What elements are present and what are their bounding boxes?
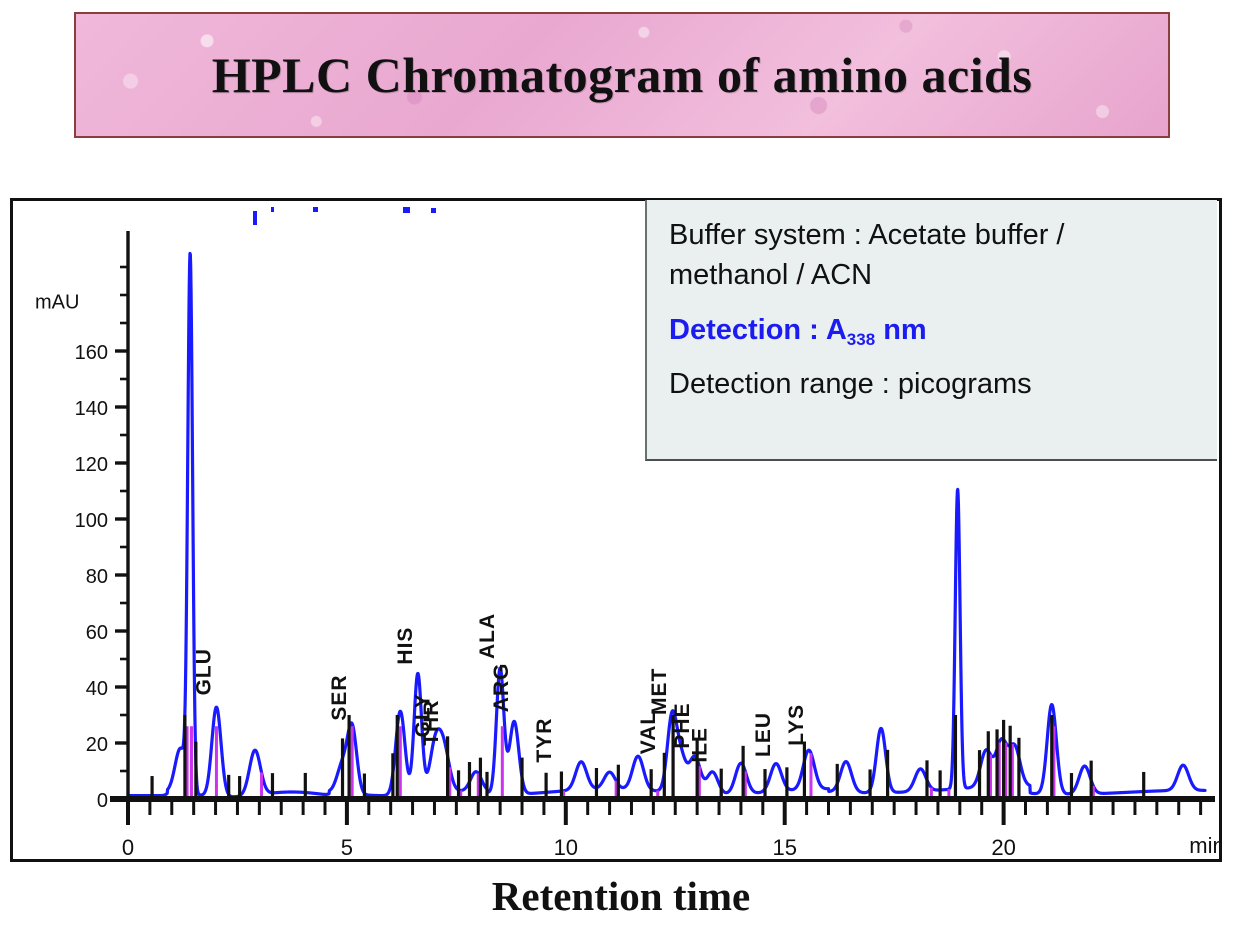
peak-labels: GLUSERHISGLYTHRALAARGTYRVALMETPHEILELEUL… [192, 613, 807, 763]
artifact-fragment [271, 207, 274, 212]
y-tick-label: 0 [97, 790, 108, 812]
y-tick-label: 120 [75, 454, 108, 476]
y-tick-label: 60 [86, 622, 108, 644]
x-axis-caption: Retention time [0, 872, 1242, 920]
peak-label-thr: THR [420, 700, 443, 746]
title-banner: HPLC Chromatogram of amino acids [74, 12, 1170, 138]
detection-suffix: nm [875, 314, 927, 346]
detection-range: Detection range : picograms [669, 365, 1217, 403]
x-tick-label: 15 [772, 835, 796, 859]
detection-prefix: Detection : A [669, 314, 847, 346]
buffer-system-line2: methanol / ACN [669, 256, 1217, 294]
detection-wavelength: Detection : A338 nm [669, 311, 1217, 349]
clipped-text-artifacts [253, 207, 436, 225]
peak-label-his: HIS [394, 627, 417, 665]
y-tick-label: 40 [86, 678, 108, 700]
peak-label-tyr: TYR [533, 718, 556, 763]
y-tick-label: 140 [75, 398, 108, 420]
y-tick-label: 160 [75, 342, 108, 364]
x-tick-label: 0 [122, 835, 134, 859]
buffer-system-line1: Buffer system : Acetate buffer / [669, 216, 1217, 254]
y-tick-label: 20 [86, 734, 108, 756]
peak-label-ile: ILE [689, 727, 712, 763]
peak-label-met: MET [648, 668, 671, 715]
y-tick-label: 100 [75, 510, 108, 532]
x-tick-label: 10 [554, 835, 578, 859]
peak-label-lys: LYS [785, 704, 808, 746]
x-axis-unit-label: min [1189, 833, 1219, 858]
page-title: HPLC Chromatogram of amino acids [212, 46, 1033, 104]
y-axis-unit-label: mAU [35, 292, 79, 314]
x-axis-ticks: 05101520 [122, 802, 1201, 859]
peak-label-ser: SER [328, 674, 351, 720]
peak-label-ala: ALA [476, 613, 499, 659]
artifact-fragment [403, 207, 410, 213]
peak-label-val: VAL [637, 711, 660, 754]
artifact-fragment [431, 208, 436, 213]
artifact-fragment [313, 207, 318, 212]
detection-subscript: 338 [847, 330, 875, 349]
x-tick-label: 20 [991, 835, 1015, 859]
y-tick-label: 80 [86, 566, 108, 588]
peak-label-arg: ARG [490, 663, 513, 713]
peak-label-leu: LEU [752, 712, 775, 757]
peak-label-glu: GLU [192, 648, 215, 695]
y-axis-ticks: 020406080100120140160 [75, 267, 128, 812]
method-info-box: Buffer system : Acetate buffer / methano… [645, 200, 1217, 461]
artifact-fragment [253, 211, 257, 225]
x-tick-label: 5 [341, 835, 353, 859]
